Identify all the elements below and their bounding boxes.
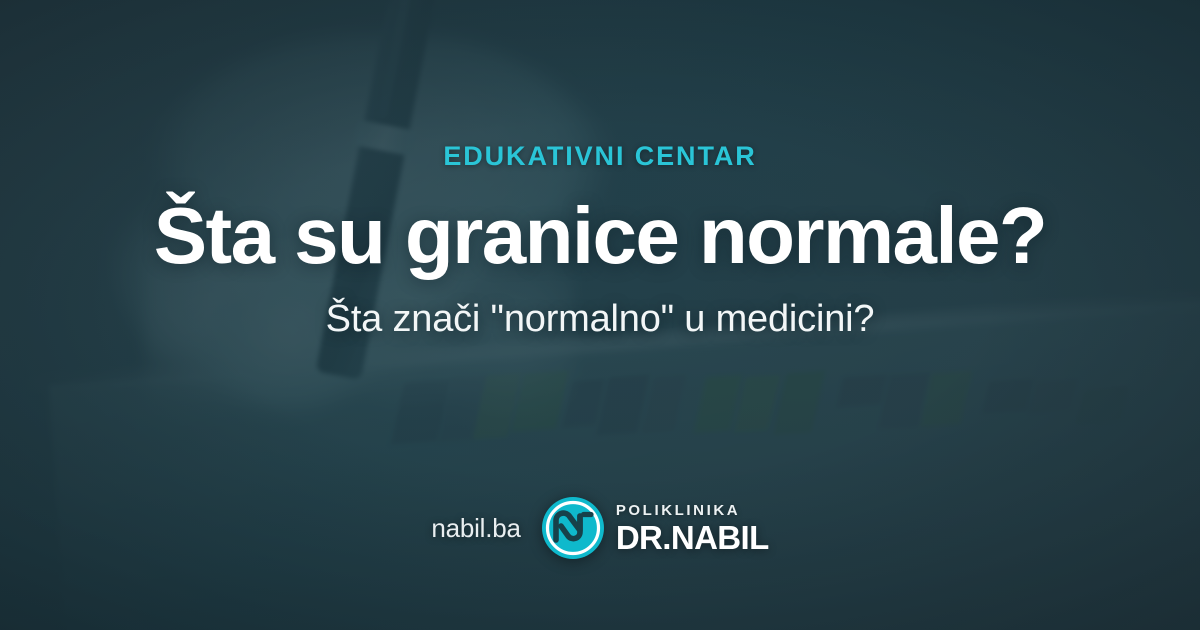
page-title: Šta su granice normale? <box>154 196 1046 276</box>
eyebrow-label: EDUKATIVNI CENTAR <box>443 141 756 172</box>
social-share-card: EDUKATIVNI CENTAR Šta su granice normale… <box>0 0 1200 630</box>
card-content: EDUKATIVNI CENTAR Šta su granice normale… <box>0 0 1200 630</box>
page-subtitle: Šta znači "normalno" u medicini? <box>326 298 875 342</box>
